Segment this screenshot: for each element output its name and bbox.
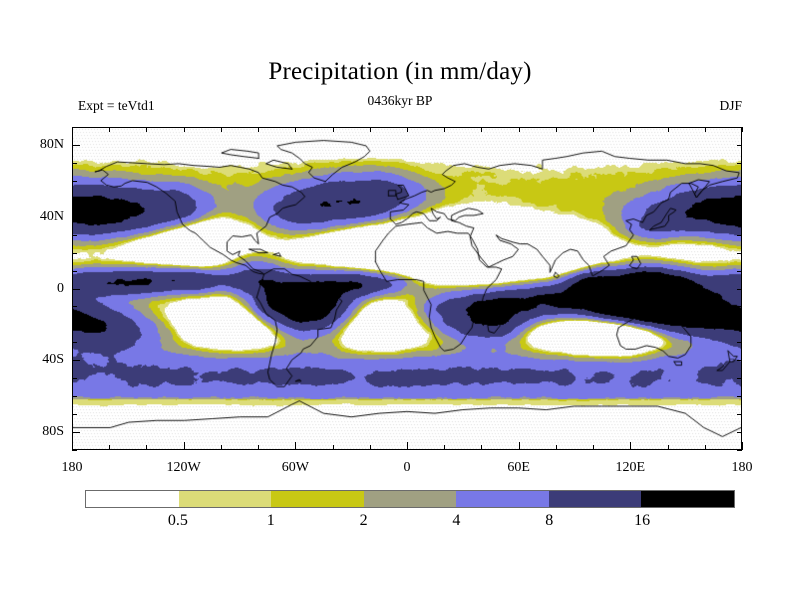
y-axis-minor-tick [72,127,77,128]
colorbar-tick-label: 4 [452,512,460,530]
x-axis-minor-tick [221,127,222,132]
y-axis-minor-tick [72,235,77,236]
colorbar-swatch [456,491,549,507]
x-axis-major-tick [407,442,408,450]
x-axis-minor-tick [556,127,557,132]
experiment-label: Expt = teVtd1 [78,98,155,114]
x-axis-minor-tick [481,127,482,132]
colorbar-swatch [549,491,642,507]
y-axis-minor-tick [737,199,742,200]
season-label: DJF [719,98,742,114]
x-axis-minor-tick [370,127,371,132]
x-axis-label: 120W [167,460,201,476]
colorbar [85,490,735,508]
x-axis-minor-tick [742,127,743,132]
y-axis-major-tick [72,217,80,218]
y-axis-major-tick [72,289,80,290]
y-axis-label: 40N [18,209,64,225]
x-axis-minor-tick [370,445,371,450]
y-axis-minor-tick [72,253,77,254]
x-axis-major-tick [519,442,520,450]
y-axis-minor-tick [72,450,77,451]
y-axis-minor-tick [72,306,77,307]
x-axis-major-tick [72,442,73,450]
x-axis-label: 120E [616,460,646,476]
y-axis-minor-tick [737,360,742,361]
y-axis-minor-tick [737,378,742,379]
y-axis-minor-tick [737,145,742,146]
x-axis-minor-tick [668,445,669,450]
page-title: Precipitation (in mm/day) [0,58,800,86]
x-axis-minor-tick [407,127,408,132]
y-axis-minor-tick [737,271,742,272]
y-axis-minor-tick [72,199,77,200]
x-axis-minor-tick [295,127,296,132]
colorbar-swatch [179,491,272,507]
x-axis-minor-tick [593,127,594,132]
map-plot-area [72,127,742,450]
y-axis-minor-tick [72,378,77,379]
x-axis-minor-tick [593,445,594,450]
y-axis-minor-tick [737,396,742,397]
x-axis-label: 180 [62,460,83,476]
precipitation-heatmap-canvas [73,128,741,449]
x-axis-major-tick [184,442,185,450]
x-axis-minor-tick [221,445,222,450]
y-axis-minor-tick [737,289,742,290]
x-axis-minor-tick [519,127,520,132]
colorbar-tick-label: 8 [545,512,553,530]
y-axis-minor-tick [737,163,742,164]
x-axis-minor-tick [109,445,110,450]
colorbar-swatch [364,491,457,507]
y-axis-label: 40S [18,352,64,368]
y-axis-minor-tick [72,163,77,164]
y-axis-minor-tick [737,432,742,433]
x-axis-major-tick [742,442,743,450]
x-axis-label: 60E [507,460,530,476]
x-axis-label: 60W [282,460,309,476]
x-axis-major-tick [295,442,296,450]
x-axis-minor-tick [146,127,147,132]
colorbar-swatch [86,491,179,507]
colorbar-tick-label: 2 [360,512,368,530]
y-axis-minor-tick [737,217,742,218]
x-axis-label: 180 [732,460,753,476]
y-axis-minor-tick [737,324,742,325]
y-axis-label: 80N [18,137,64,153]
y-axis-major-tick [72,360,80,361]
y-axis-minor-tick [737,342,742,343]
colorbar-swatch [271,491,364,507]
x-axis-major-tick [630,442,631,450]
y-axis-label: 80S [18,424,64,440]
x-axis-minor-tick [333,445,334,450]
y-axis-minor-tick [72,271,77,272]
x-axis-minor-tick [444,445,445,450]
x-axis-minor-tick [333,127,334,132]
y-axis-minor-tick [737,253,742,254]
y-axis-minor-tick [737,414,742,415]
y-axis-minor-tick [737,450,742,451]
x-axis-label: 0 [404,460,411,476]
x-axis-minor-tick [668,127,669,132]
y-axis-major-tick [72,145,80,146]
colorbar-tick-label: 0.5 [168,512,188,530]
y-axis-minor-tick [737,181,742,182]
colorbar-tick-label: 1 [267,512,275,530]
colorbar-tick-label: 16 [634,512,650,530]
y-axis-label: 0 [18,281,64,297]
y-axis-major-tick [72,432,80,433]
x-axis-minor-tick [481,445,482,450]
y-axis-minor-tick [72,414,77,415]
x-axis-minor-tick [258,127,259,132]
x-axis-minor-tick [109,127,110,132]
y-axis-minor-tick [737,306,742,307]
y-axis-minor-tick [72,396,77,397]
x-axis-minor-tick [705,445,706,450]
y-axis-minor-tick [72,342,77,343]
x-axis-minor-tick [184,127,185,132]
x-axis-minor-tick [705,127,706,132]
y-axis-minor-tick [72,324,77,325]
x-axis-minor-tick [258,445,259,450]
colorbar-swatch [641,491,734,507]
x-axis-minor-tick [146,445,147,450]
y-axis-minor-tick [737,235,742,236]
y-axis-minor-tick [737,127,742,128]
x-axis-minor-tick [444,127,445,132]
x-axis-minor-tick [630,127,631,132]
y-axis-minor-tick [72,181,77,182]
x-axis-minor-tick [556,445,557,450]
